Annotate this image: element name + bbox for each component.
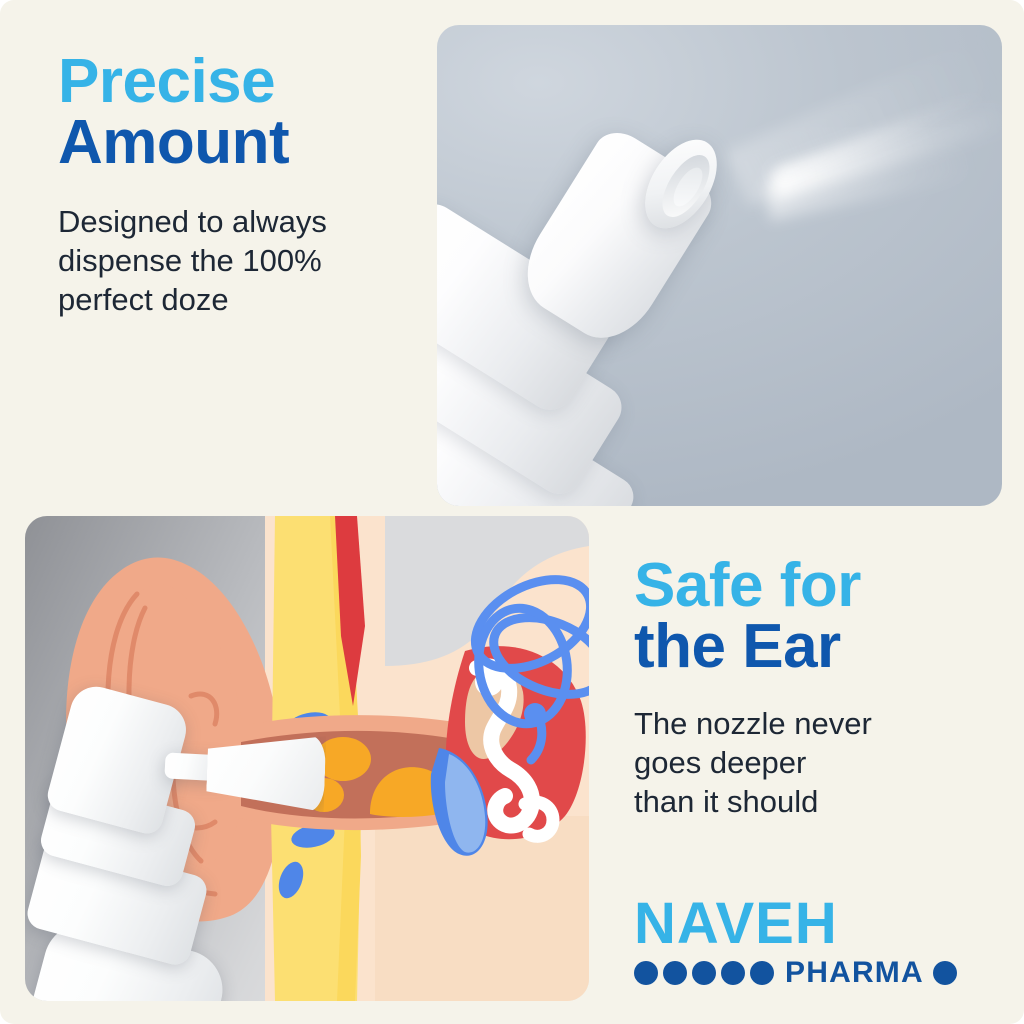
body-line-3: than it should [634, 782, 984, 821]
heading-line-2: Amount [58, 113, 418, 174]
ear-anatomy-image-panel [25, 516, 589, 1001]
body-line-1: The nozzle never [634, 704, 984, 743]
body-line-2: dispense the 100% [58, 241, 418, 280]
feature-block-precise-amount: Precise Amount Designed to always dispen… [58, 52, 418, 319]
naveh-pharma-logo: NAVEH PHARMA [634, 895, 957, 988]
heading-line-1: Precise [58, 52, 418, 113]
logo-dot [692, 961, 716, 985]
heading-line-2: the Ear [634, 617, 984, 678]
precise-amount-heading: Precise Amount [58, 52, 418, 174]
logo-dot-trailing [933, 961, 957, 985]
logo-brand-text: NAVEH [634, 895, 957, 953]
promo-canvas: Precise Amount Designed to always dispen… [0, 0, 1024, 1024]
safe-for-the-ear-body: The nozzle never goes deeper than it sho… [634, 704, 984, 821]
body-line-3: perfect doze [58, 280, 418, 319]
spray-nozzle-image-panel [437, 25, 1002, 506]
logo-dot [721, 961, 745, 985]
feature-block-safe-for-the-ear: Safe for the Ear The nozzle never goes d… [634, 556, 984, 821]
safe-for-the-ear-heading: Safe for the Ear [634, 556, 984, 678]
heading-line-1: Safe for [634, 556, 984, 617]
logo-dot [634, 961, 658, 985]
body-line-2: goes deeper [634, 743, 984, 782]
precise-amount-body: Designed to always dispense the 100% per… [58, 202, 418, 319]
logo-sub-text: PHARMA [785, 958, 924, 988]
logo-dot [663, 961, 687, 985]
logo-dot [750, 961, 774, 985]
logo-sub-row: PHARMA [634, 958, 957, 988]
body-line-1: Designed to always [58, 202, 418, 241]
